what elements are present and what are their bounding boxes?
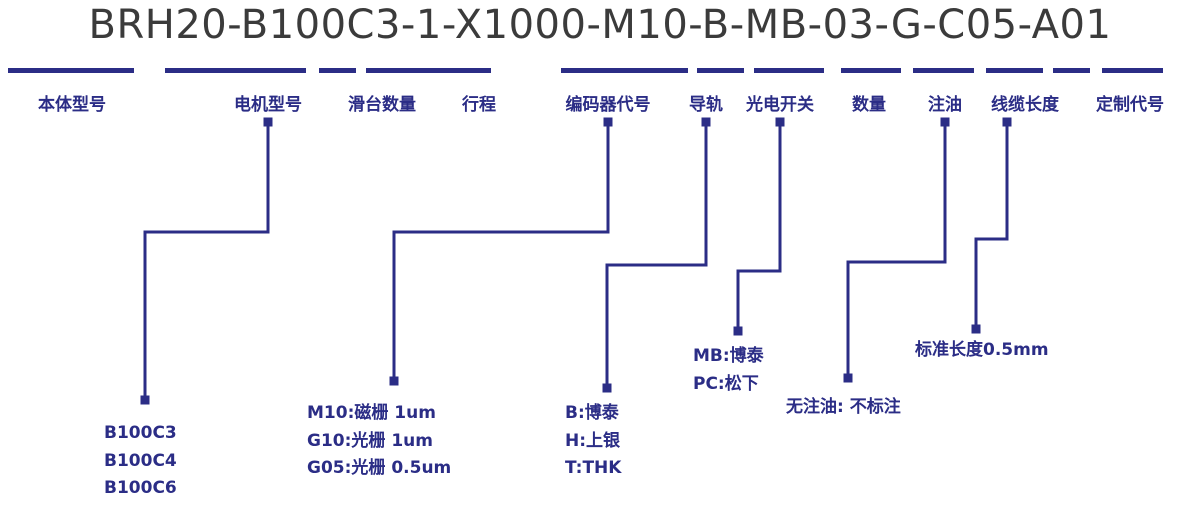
callout-photo-switch-line-1: MB:博泰	[693, 343, 764, 371]
callout-photo-switch-line-2: PC:松下	[693, 371, 764, 399]
leader-guide-rail-path	[607, 122, 706, 388]
leader-encoder-code-start-marker	[604, 118, 613, 127]
underline-segment-2	[165, 68, 306, 73]
callout-guide-rail-line-2: H:上银	[565, 428, 621, 456]
field-label-body-model: 本体型号	[38, 90, 106, 115]
leader-encoder-code-end-marker	[390, 377, 399, 386]
leader-oil-end-marker	[844, 374, 853, 383]
underline-segment-3	[319, 68, 356, 73]
leader-body-model-end-marker	[141, 396, 150, 405]
callout-encoder-code-line-3: G05:光栅 0.5um	[307, 455, 451, 483]
callout-encoder-code: M10:磁栅 1umG10:光栅 1umG05:光栅 0.5um	[307, 400, 451, 483]
field-label-stroke: 行程	[462, 90, 496, 115]
callout-photo-switch: MB:博泰PC:松下	[693, 343, 764, 398]
callout-body-model-line-1: B100C3	[104, 420, 177, 448]
model-number-title: BRH20-B100C3-1-X1000-M10-B-MB-03-G-C05-A…	[0, 2, 1200, 48]
field-label-oil-injection: 注油	[928, 90, 962, 115]
field-label-custom-code: 定制代号	[1096, 90, 1164, 115]
leader-guide-rail-end-marker	[603, 384, 612, 393]
field-label-guide-rail: 导轨	[689, 90, 723, 115]
field-label-motor-model: 电机型号	[234, 90, 302, 115]
leader-photo-switch-path	[738, 122, 780, 331]
leader-photo-switch-end-marker	[734, 327, 743, 336]
underline-segment-12	[1102, 68, 1163, 73]
field-label-slide-count: 滑台数量	[348, 90, 416, 115]
underline-segment-7	[754, 68, 824, 73]
callout-guide-rail: B:博泰H:上银T:THK	[565, 400, 621, 483]
callout-cable-length: 标准长度0.5mm	[915, 337, 1049, 365]
callout-body-model-line-3: B100C6	[104, 475, 177, 503]
leader-cable-length-start-marker	[1003, 118, 1012, 127]
underline-segment-1	[8, 68, 134, 73]
leader-cable-length	[972, 118, 1012, 334]
underline-segment-11	[1053, 68, 1090, 73]
leader-cable-length-path	[976, 122, 1007, 329]
leader-body-model-start-marker	[264, 118, 273, 127]
model-number-breakdown-diagram: BRH20-B100C3-1-X1000-M10-B-MB-03-G-C05-A…	[0, 0, 1200, 507]
leader-oil-start-marker	[941, 118, 950, 127]
callout-encoder-code-line-1: M10:磁栅 1um	[307, 400, 451, 428]
underline-segment-8	[841, 68, 901, 73]
callout-guide-rail-line-3: T:THK	[565, 455, 621, 483]
leader-encoder-code	[390, 118, 613, 386]
callout-cable-length-line-1: 标准长度0.5mm	[915, 337, 1049, 365]
leader-cable-length-end-marker	[972, 325, 981, 334]
leader-encoder-code-path	[394, 122, 608, 381]
callout-body-model-line-2: B100C4	[104, 448, 177, 476]
callout-encoder-code-line-2: G10:光栅 1um	[307, 428, 451, 456]
field-label-quantity: 数量	[852, 90, 886, 115]
underline-segment-10	[986, 68, 1043, 73]
underline-segment-6	[697, 68, 744, 73]
field-label-photo-switch: 光电开关	[746, 90, 814, 115]
callout-oil-line-1: 无注油: 不标注	[786, 394, 901, 422]
leader-photo-switch	[734, 118, 785, 336]
callout-guide-rail-line-1: B:博泰	[565, 400, 621, 428]
underline-segment-4	[366, 68, 491, 73]
leader-guide-rail-start-marker	[702, 118, 711, 127]
underline-segment-9	[913, 68, 974, 73]
leader-body-model	[141, 118, 273, 405]
field-label-cable-length: 线缆长度	[991, 90, 1059, 115]
leader-body-model-path	[145, 122, 268, 400]
field-label-encoder-code: 编码器代号	[566, 90, 651, 115]
callout-body-model: B100C3B100C4B100C6	[104, 420, 177, 503]
leader-photo-switch-start-marker	[776, 118, 785, 127]
underline-segment-5	[561, 68, 688, 73]
callout-oil: 无注油: 不标注	[786, 394, 901, 422]
